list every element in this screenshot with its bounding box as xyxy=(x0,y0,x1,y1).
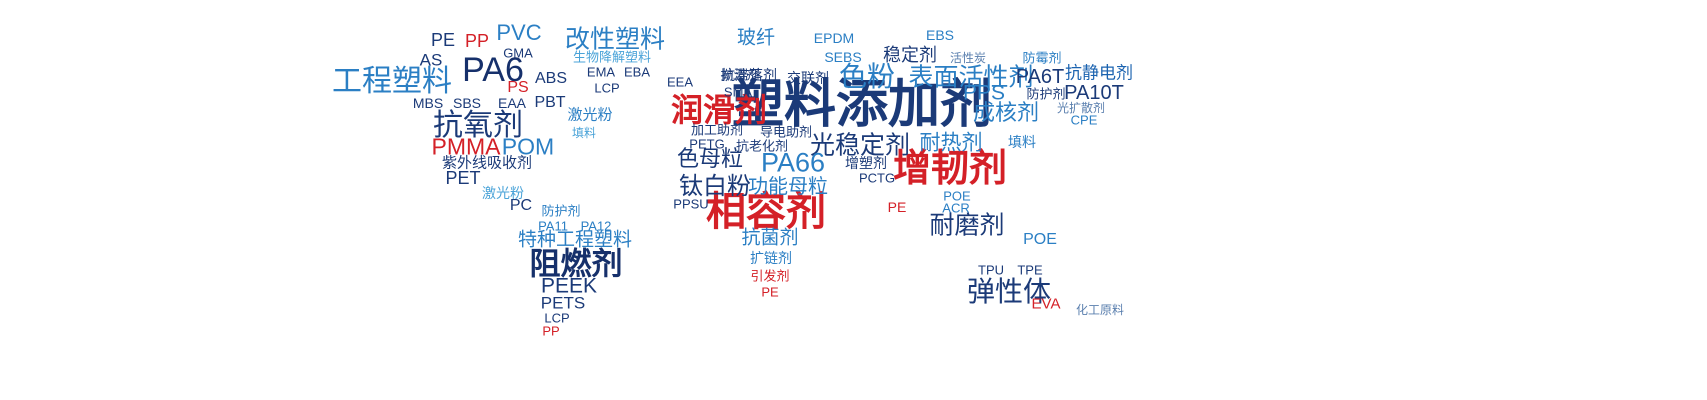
word-cloud-term[interactable]: 成核剂 xyxy=(973,103,1039,125)
word-cloud-term[interactable]: EPDM xyxy=(814,31,854,45)
word-cloud-term[interactable]: PS xyxy=(507,80,528,96)
word-cloud-term[interactable]: 激光粉 xyxy=(567,108,612,123)
word-cloud-term[interactable]: SBS xyxy=(453,96,481,110)
word-cloud-term[interactable]: PET xyxy=(445,169,480,187)
word-cloud-term[interactable]: PE xyxy=(761,286,778,299)
word-cloud-term[interactable]: SEBS xyxy=(824,50,861,64)
word-cloud-term[interactable]: EVA xyxy=(1032,297,1061,312)
word-cloud-term[interactable]: PA10T xyxy=(1064,83,1124,103)
word-cloud-term[interactable]: 光扩散剂 xyxy=(1057,102,1105,114)
word-cloud-term[interactable]: PE xyxy=(431,31,455,49)
word-cloud-term[interactable]: AS xyxy=(420,52,443,69)
word-cloud-term[interactable]: LCP xyxy=(594,82,619,95)
word-cloud-term[interactable]: 耐热剂 xyxy=(920,133,983,154)
word-cloud-term[interactable]: 工程塑料 xyxy=(332,67,452,97)
word-cloud-canvas: 塑料添加剂相容剂增韧剂润滑剂阻燃剂工程塑料抗氧剂PA6色粉表面活性剂弹性体光稳定… xyxy=(0,0,1707,400)
word-cloud-term[interactable]: 改性塑料 xyxy=(565,27,665,52)
word-cloud-term[interactable]: PP xyxy=(542,325,559,338)
word-cloud-term[interactable]: 抗老化剂 xyxy=(736,141,788,154)
word-cloud-term[interactable]: 防霉剂 xyxy=(1022,53,1061,66)
word-cloud-term[interactable]: 活性炭 xyxy=(950,52,986,64)
word-cloud-term[interactable]: 填料 xyxy=(572,127,596,139)
word-cloud-term[interactable]: EMA xyxy=(587,66,615,79)
word-cloud-term[interactable]: 防护剂 xyxy=(1026,89,1065,102)
word-cloud-term[interactable]: 化工原料 xyxy=(1076,304,1124,316)
word-cloud-term[interactable]: 功能母粒 xyxy=(748,176,828,196)
word-cloud-term[interactable]: 生物降解塑料 xyxy=(573,52,651,65)
word-cloud-term[interactable]: 扩链剂 xyxy=(750,252,792,266)
word-cloud-term[interactable]: EEA xyxy=(667,76,693,89)
word-cloud-term[interactable]: SMA xyxy=(724,86,752,99)
word-cloud-term[interactable]: 玻纤 xyxy=(737,29,775,48)
word-cloud-term[interactable]: 填料 xyxy=(1008,136,1036,150)
word-cloud-term[interactable]: MBS xyxy=(413,96,443,110)
word-cloud-term[interactable]: EBA xyxy=(624,66,650,79)
word-cloud-term[interactable]: PVC xyxy=(496,22,541,44)
word-cloud-term[interactable]: 引发剂 xyxy=(750,271,789,284)
word-cloud-term[interactable]: PPSU xyxy=(673,198,708,211)
word-cloud-term[interactable]: 耐磨剂 xyxy=(929,213,1004,238)
word-cloud-term[interactable]: 色粉 xyxy=(839,63,895,91)
word-cloud-term[interactable]: PE xyxy=(888,200,907,214)
word-cloud-term[interactable]: PPS xyxy=(963,83,1005,104)
word-cloud-term[interactable]: PCTG xyxy=(859,172,895,185)
word-cloud-term[interactable]: GMA xyxy=(503,47,533,60)
word-cloud-term[interactable]: 润滑剂 xyxy=(671,94,767,126)
word-cloud-term[interactable]: 防护剂 xyxy=(541,206,580,219)
word-cloud-term[interactable]: PETG xyxy=(689,138,724,151)
word-cloud-term[interactable]: 特种工程塑料 xyxy=(518,231,632,250)
word-cloud-term[interactable]: 抗菌剂 xyxy=(741,229,798,248)
word-cloud-term[interactable]: 抗静电剂 xyxy=(1065,66,1133,83)
word-cloud-term[interactable]: 交联剂 xyxy=(787,72,829,86)
word-cloud-term[interactable]: PP xyxy=(465,32,489,50)
word-cloud-term[interactable]: TPE xyxy=(1017,264,1042,277)
word-cloud-term[interactable]: PA12 xyxy=(581,220,612,233)
word-cloud-term[interactable]: PETS xyxy=(541,295,585,312)
word-cloud-term[interactable]: 激光粉 xyxy=(482,187,524,201)
word-cloud-term[interactable]: 增塑剂 xyxy=(845,157,887,171)
word-cloud-term[interactable]: 紫外线吸收剂 xyxy=(442,156,532,171)
word-cloud-term[interactable]: 色母粒 xyxy=(677,149,743,171)
word-cloud-term[interactable]: 稳定剂 xyxy=(883,47,937,65)
word-cloud-term[interactable]: 抗滞落剂 xyxy=(721,69,777,83)
word-cloud-term[interactable]: PA6T xyxy=(1016,67,1065,87)
word-cloud-term[interactable]: TPU xyxy=(978,264,1004,277)
word-cloud-term[interactable]: POE xyxy=(1023,232,1057,248)
word-cloud-term[interactable]: EAA xyxy=(498,96,526,110)
word-cloud-term[interactable]: CPE xyxy=(1071,114,1098,127)
word-cloud-term[interactable]: EBS xyxy=(926,28,954,42)
word-cloud-term[interactable]: PBT xyxy=(534,95,565,111)
word-cloud-term[interactable]: 导电助剂 xyxy=(760,127,812,140)
word-cloud-term[interactable]: PA11 xyxy=(538,220,568,233)
word-cloud-term[interactable]: 钛白粉 xyxy=(679,174,751,198)
word-cloud-term[interactable]: ACR xyxy=(942,202,969,215)
word-cloud-term[interactable]: 增韧剂 xyxy=(893,149,1007,187)
word-cloud-term[interactable]: ABS xyxy=(535,71,567,87)
word-cloud-term[interactable]: 加工助剂 xyxy=(691,125,743,138)
